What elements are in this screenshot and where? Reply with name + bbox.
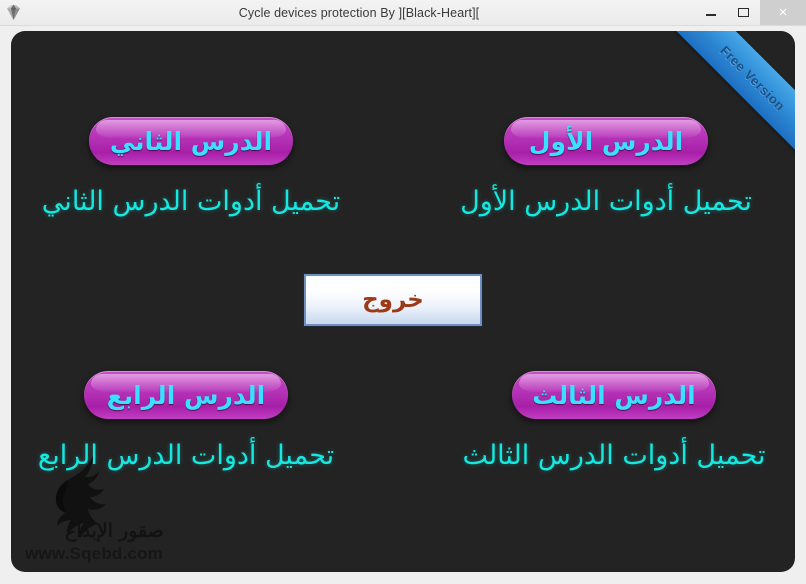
lesson-2-caption: تحميل أدوات الدرس الثاني — [36, 187, 346, 217]
exit-button[interactable]: خروج — [304, 274, 482, 326]
lesson-3-caption: تحميل أدوات الدرس الثالث — [459, 441, 769, 471]
watermark-url: www.Sqebd.com — [25, 544, 163, 564]
watermark: صقور الإبداع www.Sqebd.com — [19, 456, 179, 568]
lesson-1-button-label: الدرس الأول — [529, 129, 683, 154]
lesson-group-1: الدرس الأول تحميل أدوات الدرس الأول — [451, 117, 761, 217]
minimize-icon[interactable] — [694, 0, 727, 25]
lesson-4-caption: تحميل أدوات الدرس الرابع — [31, 441, 341, 471]
lesson-group-3: الدرس الثالث تحميل أدوات الدرس الثالث — [459, 371, 769, 471]
lesson-1-caption: تحميل أدوات الدرس الأول — [451, 187, 761, 217]
maximize-icon[interactable] — [727, 0, 760, 25]
title-bar: Cycle devices protection By ][Black-Hear… — [0, 0, 806, 26]
close-icon[interactable]: × — [760, 0, 806, 25]
lesson-4-button[interactable]: الدرس الرابع — [84, 371, 288, 419]
lesson-3-button[interactable]: الدرس الثالث — [512, 371, 716, 419]
lesson-4-button-label: الدرس الرابع — [107, 383, 266, 408]
lesson-2-button-label: الدرس الثاني — [110, 129, 272, 154]
main-panel: Free Version الدرس الأول تحميل أدوات الد… — [11, 31, 795, 572]
application-window: Cycle devices protection By ][Black-Hear… — [0, 0, 806, 584]
lesson-group-2: الدرس الثاني تحميل أدوات الدرس الثاني — [36, 117, 346, 217]
window-title: Cycle devices protection By ][Black-Hear… — [26, 6, 694, 20]
exit-button-label: خروج — [362, 289, 424, 312]
lesson-group-4: الدرس الرابع تحميل أدوات الدرس الرابع — [31, 371, 341, 471]
watermark-arabic-text: صقور الإبداع — [65, 520, 164, 542]
diamond-gem-icon — [0, 0, 26, 25]
lesson-1-button[interactable]: الدرس الأول — [504, 117, 708, 165]
ribbon-label: Free Version — [718, 43, 789, 114]
lesson-3-button-label: الدرس الثالث — [532, 383, 695, 408]
lesson-2-button[interactable]: الدرس الثاني — [89, 117, 293, 165]
